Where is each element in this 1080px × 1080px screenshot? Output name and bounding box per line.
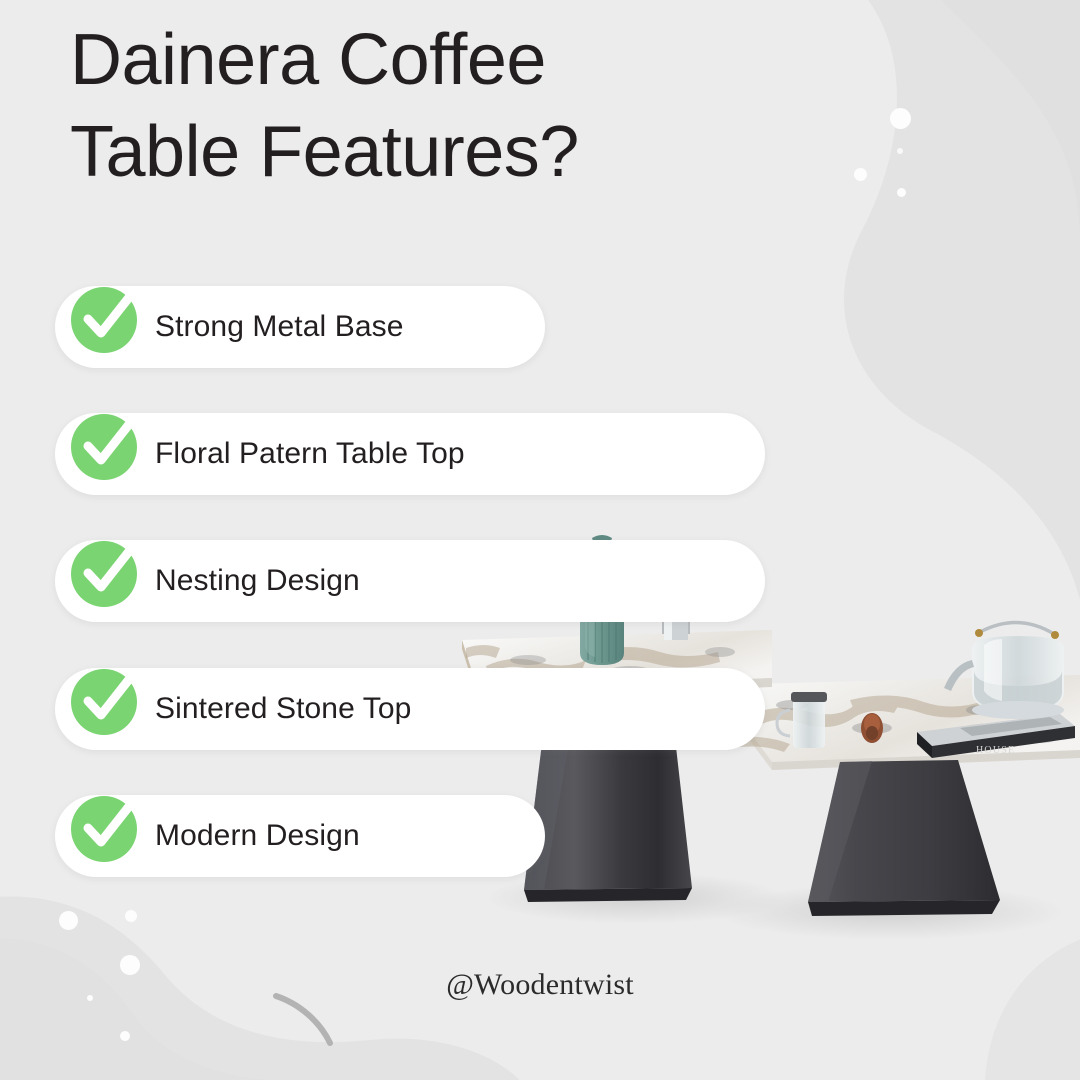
- decor-dot: [897, 148, 903, 154]
- book-title: HOUSE: [976, 745, 1015, 756]
- check-circle-icon: [68, 279, 144, 355]
- decor-dot: [890, 108, 911, 129]
- arc-swoosh-icon: [276, 996, 330, 1043]
- feature-label: Nesting Design: [155, 540, 360, 622]
- feature-label: Floral Patern Table Top: [155, 413, 465, 495]
- feature-label: Modern Design: [155, 795, 360, 877]
- feature-label: Strong Metal Base: [155, 286, 404, 368]
- check-circle-icon: [68, 661, 144, 737]
- decor-dot: [59, 911, 78, 930]
- decor-dot: [120, 1031, 130, 1041]
- check-circle-icon: [68, 406, 144, 482]
- poster-canvas: Dainera Coffee Table Features?: [0, 0, 1080, 1080]
- decor-dot: [897, 188, 906, 197]
- pinecone: [861, 713, 883, 743]
- check-circle-icon: [68, 788, 144, 864]
- blob-bottom-right: [985, 930, 1080, 1080]
- page-title: Dainera Coffee Table Features?: [70, 14, 579, 198]
- table-right-base-foot: [808, 900, 1000, 916]
- decor-dot: [854, 168, 867, 181]
- feature-label: Sintered Stone Top: [155, 668, 411, 750]
- blob-bottom-left-secondary: [0, 938, 270, 1080]
- blob-top-right-secondary: [910, 0, 1080, 240]
- check-circle-icon: [68, 533, 144, 609]
- brand-handle: @Woodentwist: [0, 968, 1080, 1002]
- decor-dot: [125, 910, 137, 922]
- table-left-base-foot: [524, 888, 692, 902]
